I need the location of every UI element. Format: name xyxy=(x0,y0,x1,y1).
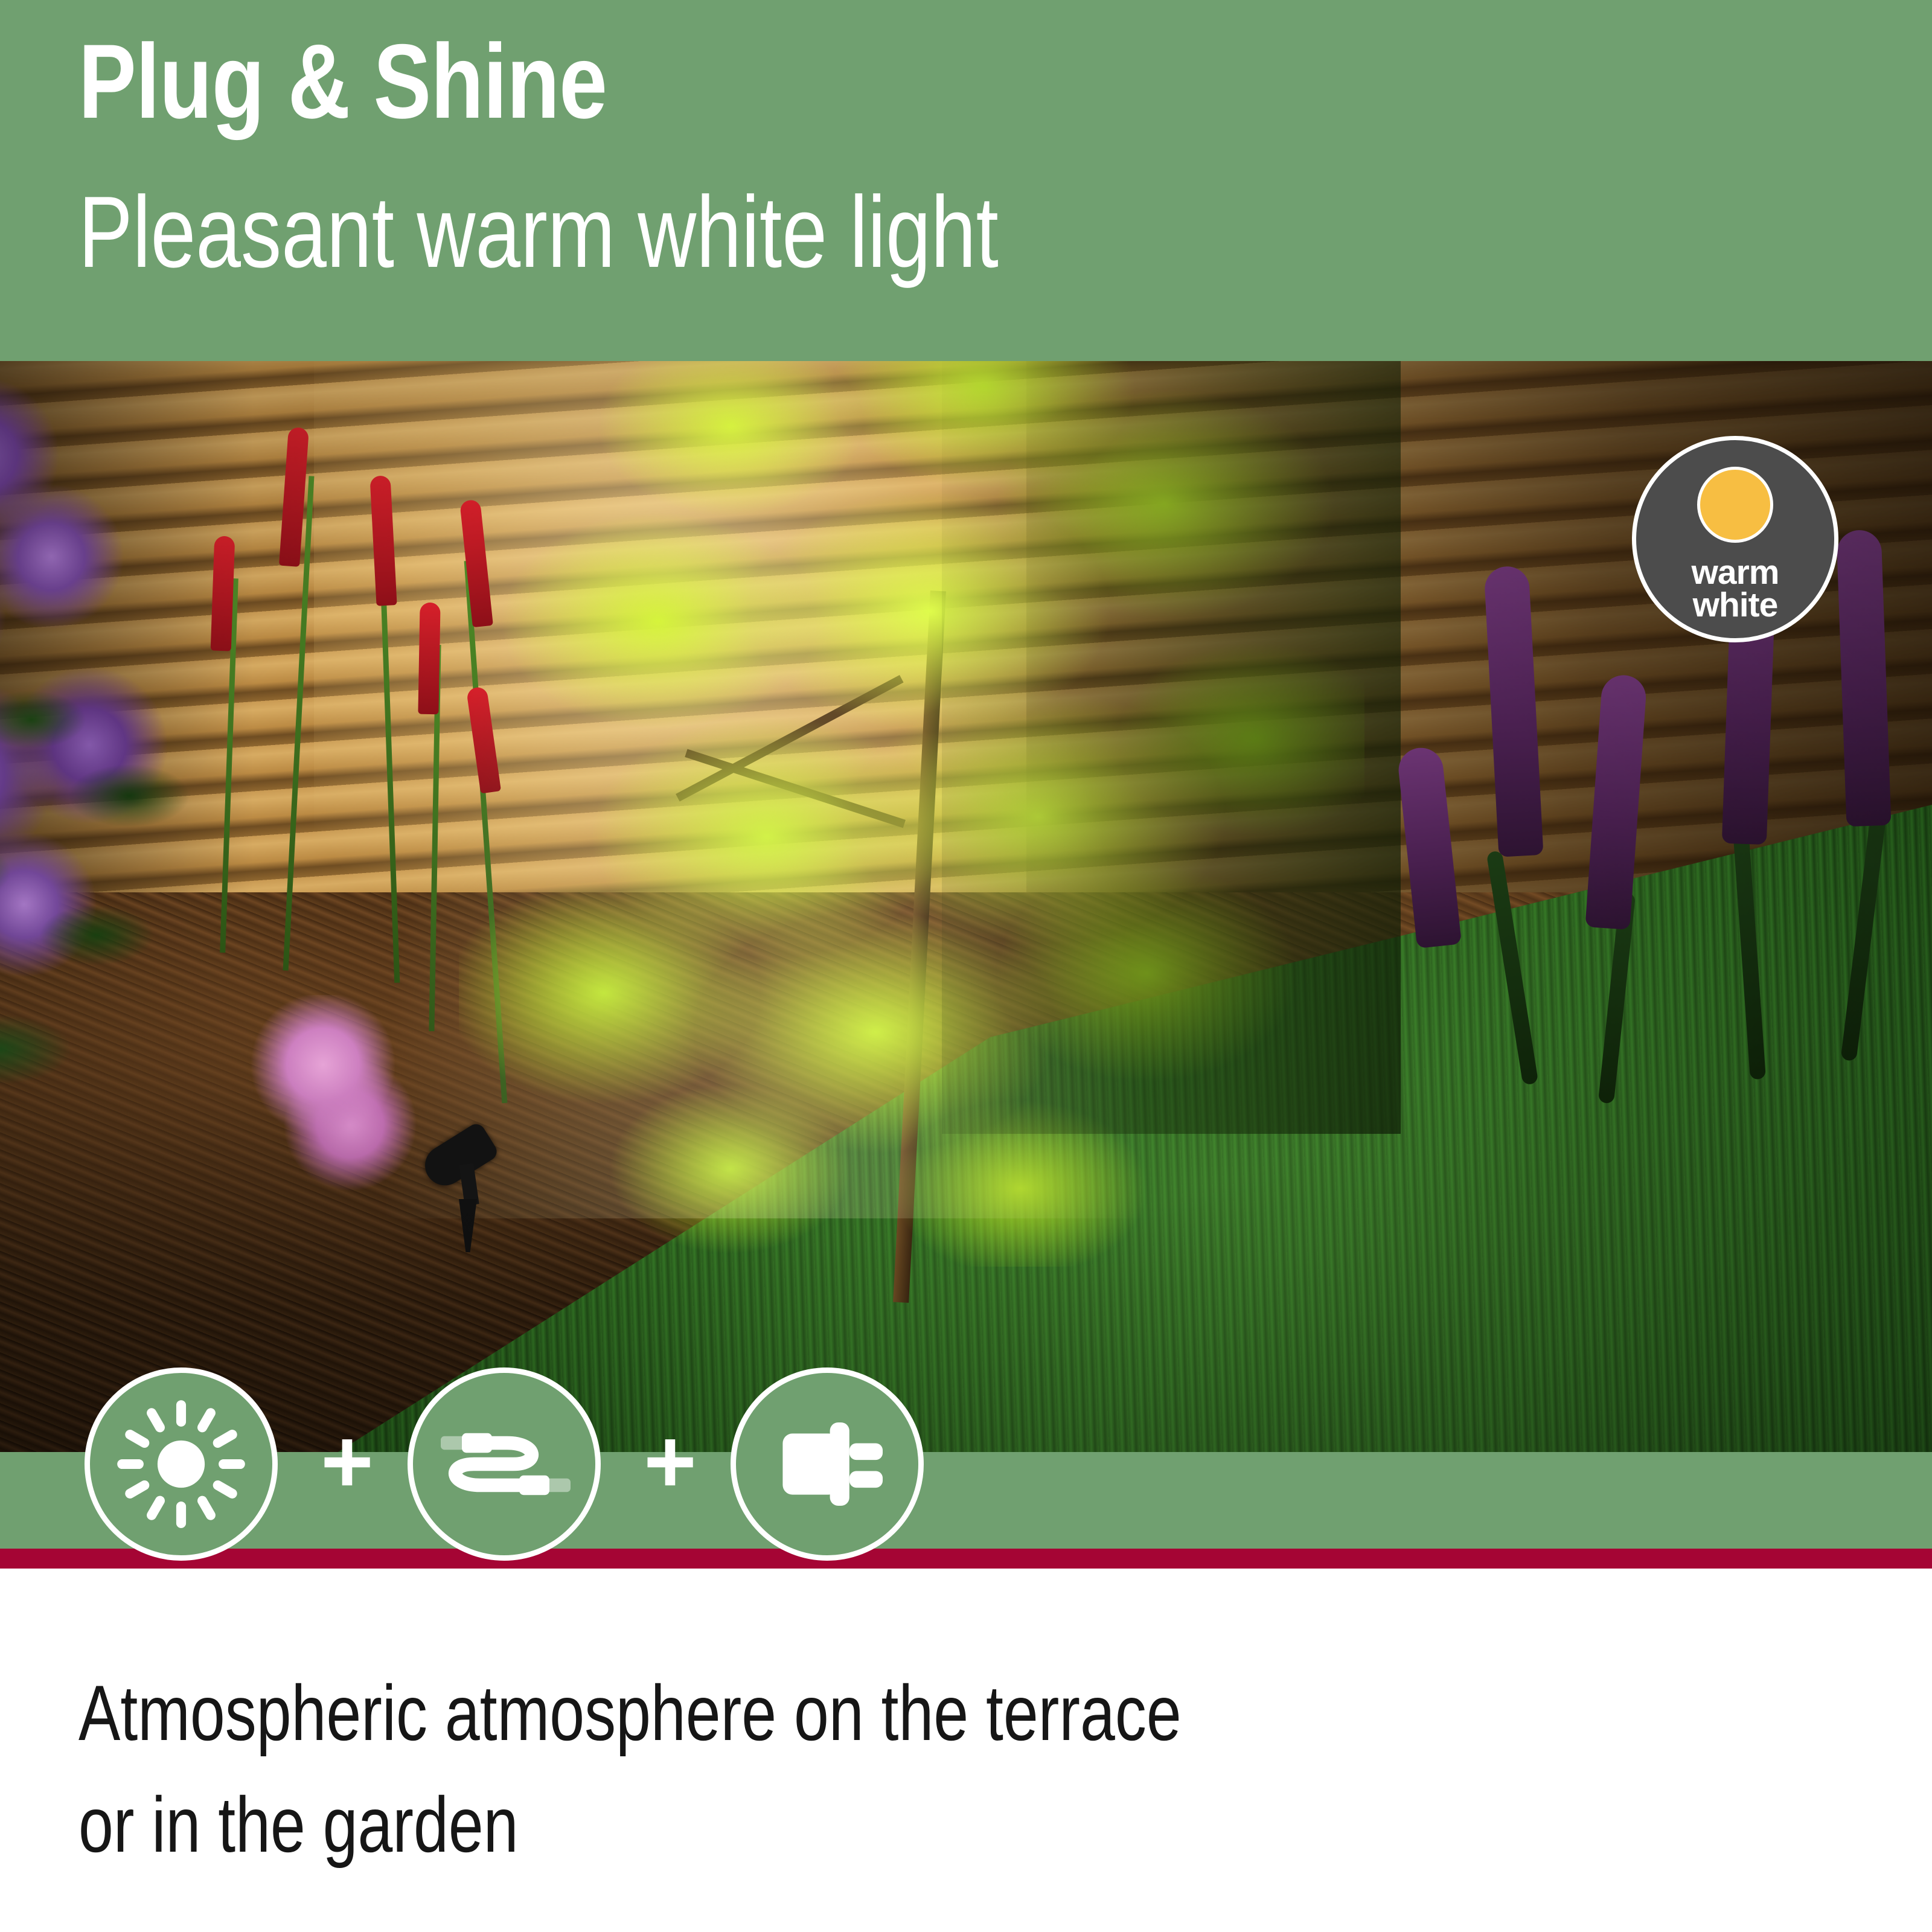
feature-icon-row: + + xyxy=(0,1367,1932,1621)
feature-icon-cable[interactable] xyxy=(408,1367,601,1561)
warm-white-color-dot xyxy=(1697,467,1773,543)
power-plug-icon xyxy=(758,1395,897,1534)
page-subtitle: Pleasant warm white light xyxy=(78,181,999,283)
pink-phlox-flower xyxy=(241,995,423,1194)
badge-label-line1: warm xyxy=(1692,556,1779,589)
warm-white-badge: warm white xyxy=(1632,436,1838,642)
red-flower-spike xyxy=(418,603,440,715)
plus-separator-2: + xyxy=(637,1431,703,1497)
badge-label-line2: white xyxy=(1692,589,1779,621)
shrub-shadow-side xyxy=(942,361,1401,1134)
sun-light-icon xyxy=(112,1395,251,1534)
plus-separator-1: + xyxy=(314,1431,380,1497)
feature-icon-plug[interactable] xyxy=(731,1367,924,1561)
header-banner: Plug & Shine Pleasant warm white light xyxy=(0,0,1932,361)
badge-label: warm white xyxy=(1692,556,1779,621)
caption-text: Atmospheric atmosphere on the terrace or… xyxy=(78,1657,1383,1880)
page-title: Plug & Shine xyxy=(78,29,607,135)
red-flower-spike xyxy=(211,536,235,651)
cable-connector-icon xyxy=(429,1389,580,1540)
feature-icon-light[interactable] xyxy=(85,1367,278,1561)
